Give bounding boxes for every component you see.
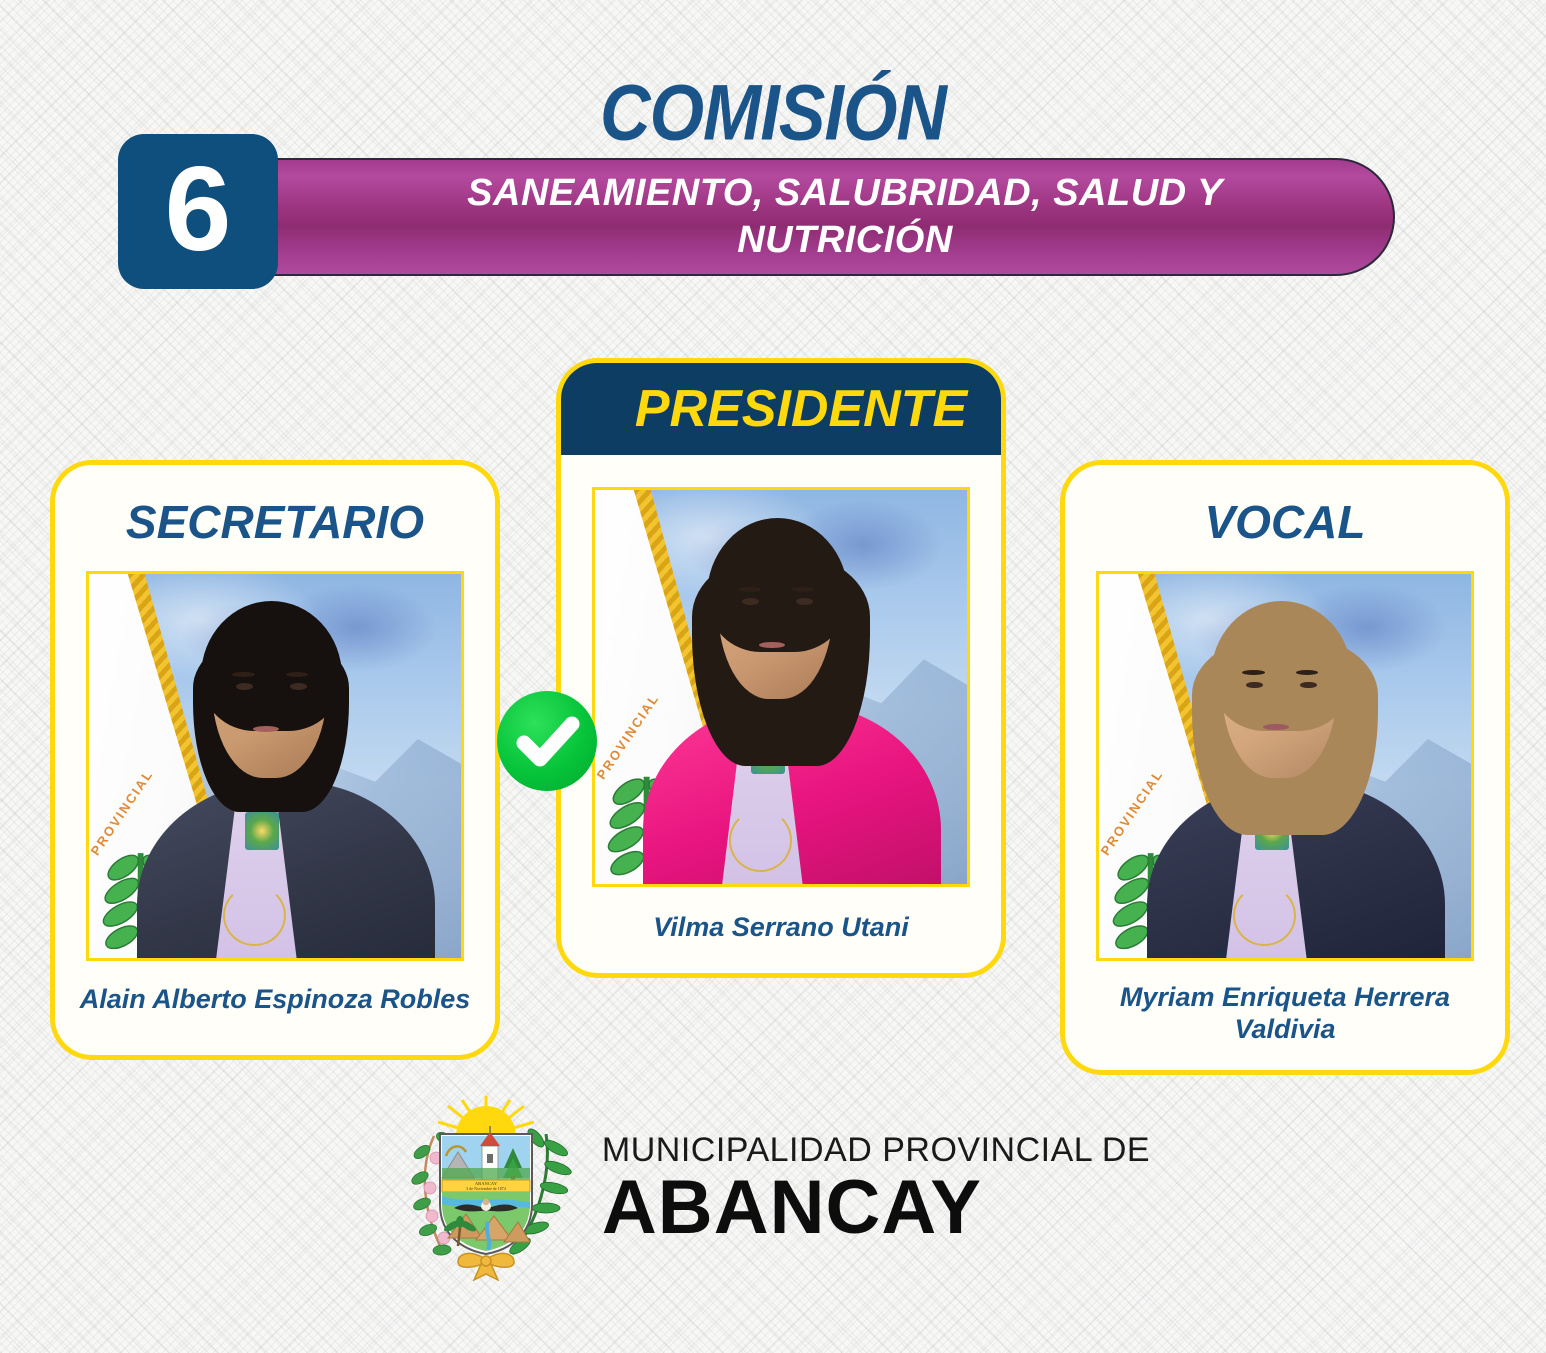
member-card-vocal[interactable]: VOCAL PROVINCIAL [1060,460,1510,1075]
member-card-secretario[interactable]: SECRETARIO PROVINCIAL [50,460,500,1060]
abancay-coat-of-arms-icon: ABANCAY 3 de Noviembre de 1874 [396,1096,576,1281]
member-name-secretario: Alain Alberto Espinoza Robles [55,983,495,1015]
role-label-secretario: SECRETARIO [55,495,495,549]
shield-date-text: 3 de Noviembre de 1874 [466,1186,506,1191]
footer-text-block: MUNICIPALIDAD PROVINCIAL DE ABANCAY [602,1131,1150,1246]
commission-topic-pill: SANEAMIENTO, SALUBRIDAD, SALUD Y NUTRICI… [205,158,1395,276]
photo-subject-figure [595,490,967,884]
member-photo-secretario: PROVINCIAL [86,571,464,961]
member-photo-vocal: PROVINCIAL [1096,571,1474,961]
member-name-vocal: Myriam Enriqueta Herrera Valdivia [1065,981,1505,1045]
footer-org-line: MUNICIPALIDAD PROVINCIAL DE [602,1131,1150,1170]
role-label-vocal: VOCAL [1065,495,1505,549]
footer-logo: ABANCAY 3 de Noviembre de 1874 [0,1088,1546,1288]
role-label-presidente: PRESIDENTE [595,379,967,439]
member-photo-presidente: PROVINCIAL [592,487,970,887]
members-row: SECRETARIO PROVINCIAL [0,330,1546,1070]
president-banner: PRESIDENTE [561,363,1001,455]
commission-topic-label: SANEAMIENTO, SALUBRIDAD, SALUD Y NUTRICI… [240,170,1360,264]
photo-subject-figure [1099,574,1471,958]
ribbon-bow [458,1253,514,1280]
photo-subject-figure [89,574,461,958]
member-card-presidente[interactable]: PRESIDENTE PROVINCIAL [556,358,1006,978]
footer-city-name: ABANCAY [602,1170,1150,1246]
commission-number-badge: 6 [118,134,278,289]
commission-number-value: 6 [118,134,278,289]
check-icon [497,691,597,791]
member-name-presidente: Vilma Serrano Utani [561,911,1001,943]
header: COMISIÓN 6 SANEAMIENTO, SALUBRIDAD, SALU… [0,0,1546,310]
